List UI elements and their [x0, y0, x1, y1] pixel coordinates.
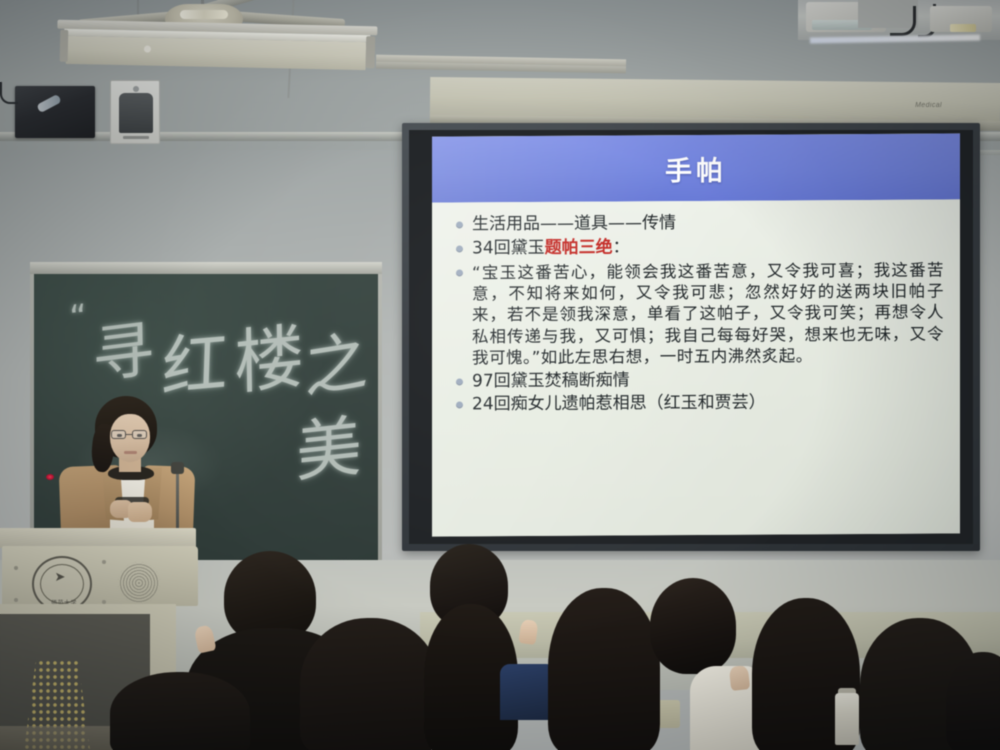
projector-cable — [890, 6, 916, 36]
classroom-photo: Medical “ 寻 红 楼 之 美 手帕 生活用品——道具——传情 34回黛… — [0, 0, 1000, 750]
wall-control-panel-icon[interactable] — [110, 80, 160, 144]
podium-speaker-grille — [118, 562, 160, 604]
chalk-character: 寻 — [91, 298, 154, 396]
water-bottle — [835, 693, 859, 745]
laser-dot-icon — [46, 474, 54, 480]
list-item: 生活用品——道具——传情 — [446, 211, 944, 236]
bullet-dot-icon — [456, 402, 463, 409]
panel-led — [133, 86, 139, 92]
list-item: 97回黛玉焚稿断痴情 — [446, 368, 944, 393]
student-head — [300, 618, 440, 750]
bullet-highlight: 题帕三绝 — [545, 237, 613, 257]
wall-speaker-icon — [15, 86, 95, 138]
microphone-icon — [176, 470, 179, 528]
list-item: 34回黛玉题帕三绝： — [446, 235, 944, 260]
list-item-label: 24回痴女儿遗帕惹相思（红玉和贾芸） — [472, 392, 944, 417]
podium-top-surface — [0, 528, 196, 548]
bullet-dot-icon — [456, 269, 463, 276]
bullet-dot-icon — [456, 245, 463, 252]
presentation-slide: 手帕 生活用品——道具——传情 34回黛玉题帕三绝： “宝玉这番苦心，能领会我这… — [432, 133, 960, 536]
list-item: “宝玉这番苦心，能领会我这番苦意，又令我可喜；我这番苦意，不知将来如何，又令我可… — [446, 259, 944, 369]
student-head — [110, 672, 250, 750]
fluorescent-light-icon — [57, 20, 378, 75]
fan-lamp — [180, 10, 228, 19]
page-title: 手帕 — [665, 148, 727, 187]
student-clothing — [500, 664, 554, 720]
list-item-label-composite: 34回黛玉题帕三绝： — [472, 235, 944, 260]
light-end-cap — [60, 30, 69, 62]
list-item: 24回痴女儿遗帕惹相思（红玉和贾芸） — [446, 392, 944, 417]
student-hand — [729, 665, 750, 691]
panel-slot — [123, 136, 149, 139]
podium-screw — [14, 566, 18, 570]
podium-body — [2, 546, 198, 606]
projector-glint — [950, 24, 976, 32]
slide-title-bar: 手帕 — [432, 133, 960, 202]
chalk-character: “ — [68, 297, 86, 338]
blackboard-top-rail — [30, 262, 382, 274]
lecturer-hand — [128, 502, 152, 522]
student-head — [650, 578, 736, 674]
bullet-suffix: ： — [613, 237, 630, 257]
bullet-prefix: 34回黛玉 — [472, 238, 545, 258]
microphone-head — [171, 462, 184, 474]
panel-face — [119, 93, 153, 133]
chalk-character: 红 — [160, 309, 229, 411]
list-item-label: 97回黛玉焚稿断痴情 — [472, 368, 944, 393]
speaker-glare — [36, 94, 61, 113]
quotation-text: “宝玉这番苦心，能领会我这番苦意，又令我可喜；我这番苦意，不知将来如何，又令我可… — [472, 259, 944, 369]
chalk-character: 楼 — [233, 300, 304, 409]
student-head — [548, 588, 660, 750]
speaker-cable — [0, 82, 18, 104]
chalk-character: 美 — [296, 392, 362, 495]
lecturer-mouth — [124, 451, 137, 454]
student-clothing — [690, 666, 760, 750]
bullet-dot-icon — [456, 221, 463, 228]
desk-surface — [0, 726, 120, 750]
emblem-bird-glyph: ➤ — [47, 572, 73, 582]
list-item-label: 生活用品——道具——传情 — [472, 211, 944, 236]
slide-body: 生活用品——道具——传情 34回黛玉题帕三绝： “宝玉这番苦心，能领会我这番苦意… — [432, 199, 960, 536]
projector-brand-label: Medical — [915, 102, 942, 109]
light-end-cap — [366, 36, 376, 68]
podium-screw — [102, 560, 106, 564]
light-housing-body — [66, 36, 367, 70]
bullet-dot-icon — [456, 378, 463, 385]
glasses-icon — [110, 430, 150, 440]
student-hand — [518, 619, 538, 645]
podium-screw — [14, 598, 18, 602]
